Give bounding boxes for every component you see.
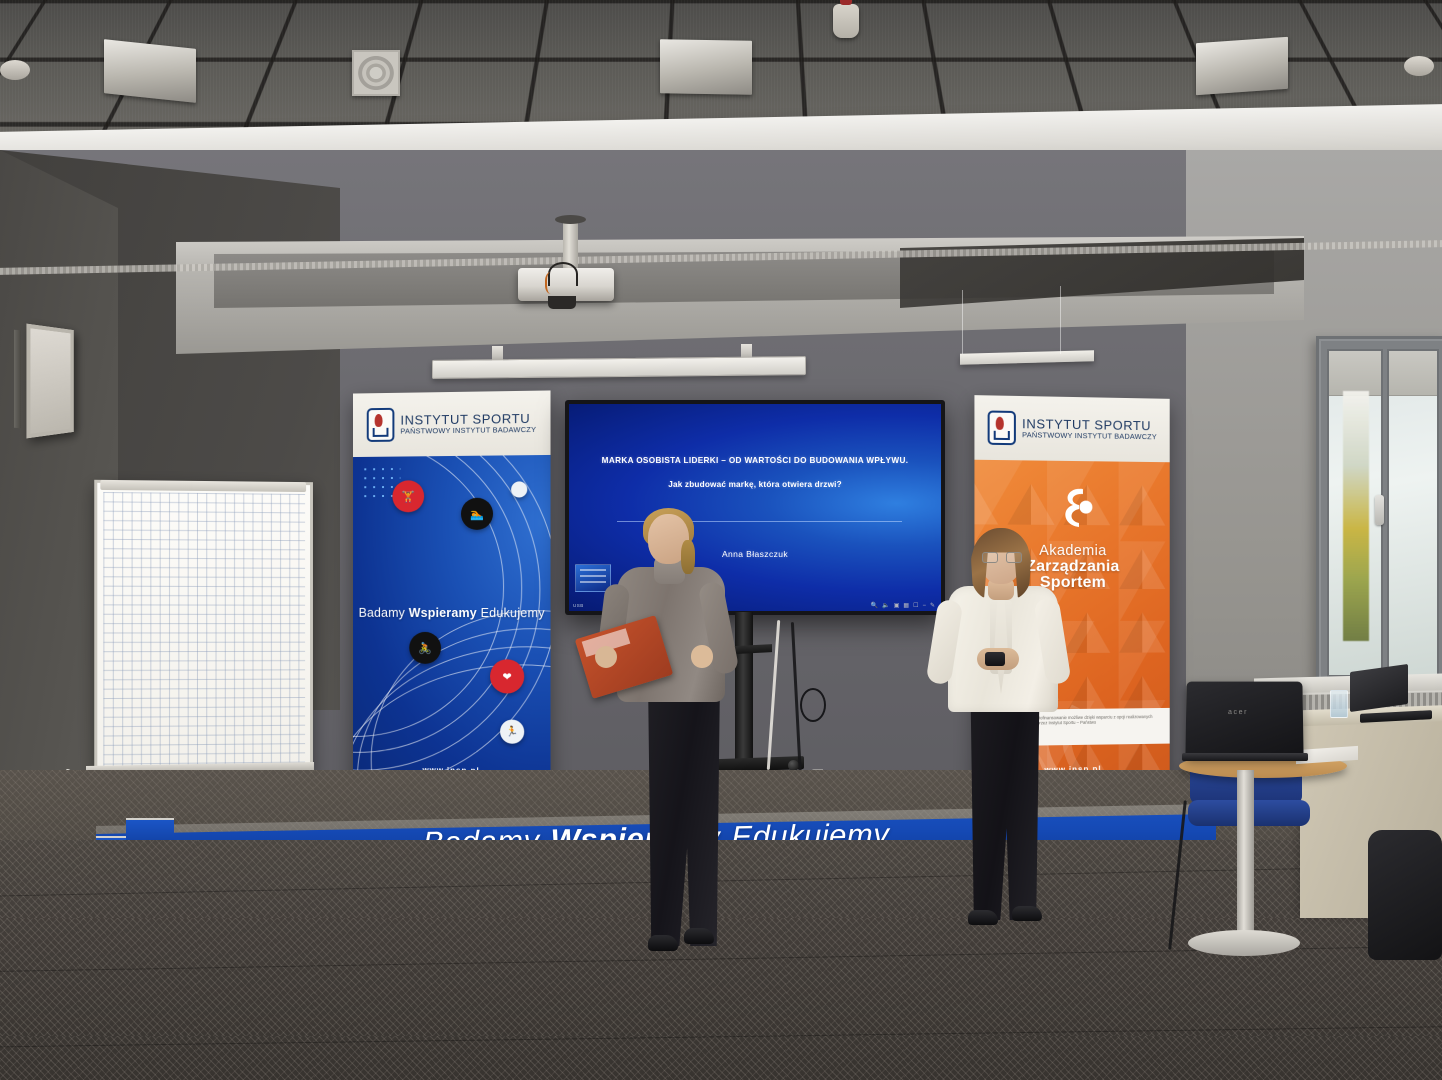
banner-instytut-sportu-left: INSTYTUT SPORTU PAŃSTWOWY INSTYTUT BADAW… [353,390,551,793]
banner-org-line2: PAŃSTWOWY INSTYTUT BADAWCZY [1022,431,1157,441]
frame-side-edge [14,330,21,429]
pen-icon[interactable]: ✎ [930,602,935,609]
search-icon[interactable]: 🔍 [871,602,878,609]
grid-icon[interactable]: ▦ [903,602,909,609]
projector-power-cable [545,272,559,294]
presenter-left-shoe [684,928,714,944]
handshake-heart-icon: ❤ [490,659,524,693]
display-cable-loop [800,688,826,722]
presenter-left-ponytail [681,540,695,574]
slide-author: Anna Błaszczuk [569,549,941,559]
ceiling-light-panel [660,39,752,95]
light-suspension-wire [1060,286,1061,354]
glasses-icon [982,552,1020,561]
window-pane-right [1387,349,1439,677]
display-bezel-controls[interactable]: 🔍 🔈 ▣ ▦ ☐ − ✎ [871,602,935,609]
running-icon: 🏃 [500,719,524,743]
window-blind [1329,351,1381,396]
ceiling-speaker-icon [0,60,30,80]
laptop[interactable]: acer [1185,682,1303,759]
laptop-keyboard-base[interactable] [1182,753,1308,761]
ceiling-speaker-icon [1404,56,1434,76]
slide-subtitle: Jak zbudować markę, która otwiera drzwi? [569,480,941,489]
presenter-right-shoe [1012,906,1042,921]
window-handle[interactable] [1375,495,1384,525]
presentation-clicker[interactable] [985,652,1005,666]
ceiling-light-panel [1196,37,1288,95]
smoke-detector-icon [833,4,859,38]
ceiling-air-vent [352,50,400,96]
banner-org-line2: PAŃSTWOWY INSTYTUT BADAWCZY [400,426,536,436]
slide-thumbnail-overlay [575,564,611,592]
instytut-sportu-logo-icon [367,408,395,442]
backpack [1368,830,1442,960]
round-table-column [1237,770,1254,936]
weightlifting-icon: 🏋 [392,480,424,512]
swimming-icon: 🏊 [461,498,493,530]
slogan-word-wspieramy: Wspieramy [409,606,477,620]
speaker-icon[interactable]: 🔈 [882,602,889,609]
conference-room-photo: INSTYTUT SPORTU PAŃSTWOWY INSTYTUT BADAW… [0,0,1442,1080]
display-trolley-post [735,612,753,772]
dot-accent-icon [511,481,527,497]
secondary-monitor[interactable] [1350,664,1408,712]
slide-title: MARKA OSOBISTA LIDERKI – OD WARTOŚCI DO … [569,456,941,465]
roll-down-projection-screen[interactable] [432,356,806,379]
banner-slogan: Badamy Wspieramy Edukujemy [353,606,551,620]
ceiling-light-panel [104,39,196,103]
slogan-word-badamy: Badamy [359,606,405,620]
strip-text-right: Dofinansowanie możliwe dzięki wsparciu z… [1037,714,1160,726]
cycling-icon: 🚴 [409,632,441,664]
framed-picture [26,324,73,439]
decorative-arcs [353,455,551,794]
presenter-left-hand [691,645,713,668]
minus-icon[interactable]: − [922,603,926,609]
presenter-left-shoe [648,935,678,951]
flipchart-clamp [100,480,306,492]
water-glass [1330,690,1348,718]
laptop-brand-label: acer [1228,709,1248,716]
window [1316,336,1442,690]
camera-icon[interactable]: ☐ [913,602,918,609]
round-table-base [1188,930,1300,956]
slogan-word-edukujemy: Edukujemy [481,606,545,620]
athlete-logo-icon [1053,483,1095,535]
banner-body: 🏋 🏊 🚴 ❤ 🏃 Badamy Wspieramy Edukujemy www… [353,455,551,794]
instytut-sportu-logo-icon [988,411,1016,446]
window-blind [1389,351,1437,396]
floor-carpet [0,840,1442,1080]
flipchart-graph-paper [103,492,305,769]
presenter-left-hand [595,646,617,668]
window-outside-view [1343,391,1369,641]
display-input-badge: USB [573,603,584,608]
presenter-right-shoe [968,910,998,925]
banner-header: INSTYTUT SPORTU PAŃSTWOWY INSTYTUT BADAW… [974,395,1169,462]
flipchart-easel[interactable] [94,480,313,776]
light-suspension-wire [962,290,963,354]
banner-header: INSTYTUT SPORTU PAŃSTWOWY INSTYTUT BADAW… [353,390,551,457]
screen-icon[interactable]: ▣ [894,602,900,609]
